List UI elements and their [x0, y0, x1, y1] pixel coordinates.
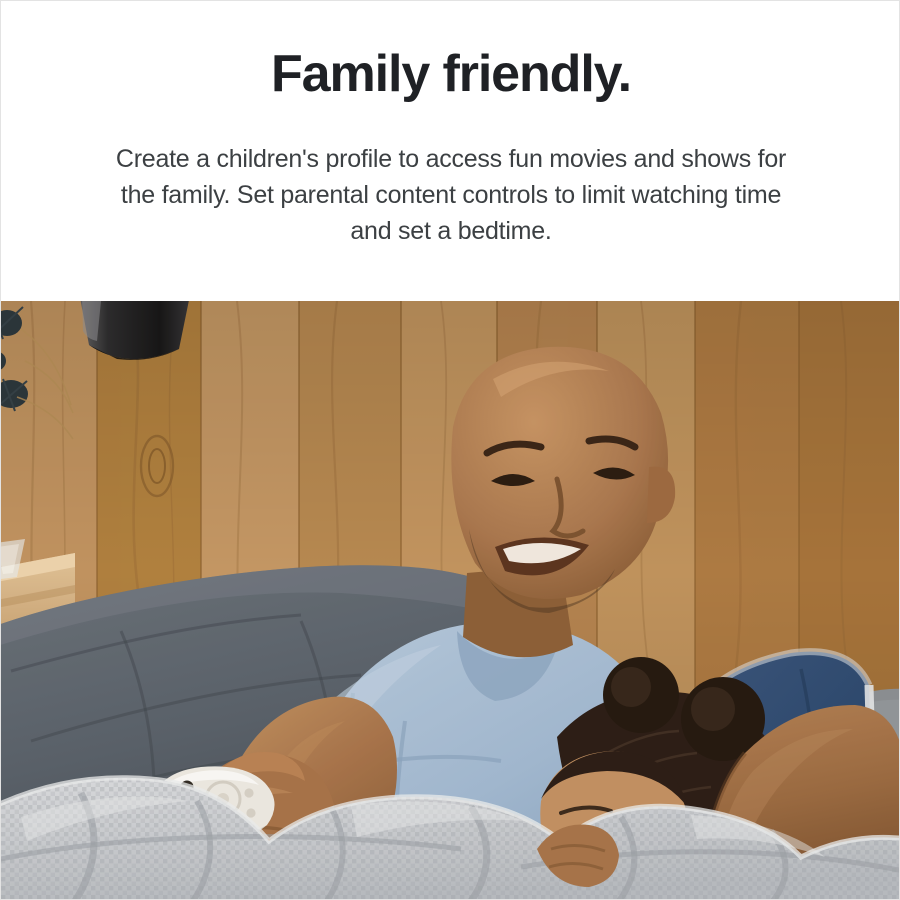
text-panel: Family friendly. Create a children's pro…: [1, 1, 900, 301]
lifestyle-photo: [1, 301, 900, 900]
photo-illustration: [1, 301, 900, 900]
family-friendly-promo-card: Family friendly. Create a children's pro…: [0, 0, 900, 900]
page-title: Family friendly.: [271, 48, 631, 100]
description-text: Create a children's profile to access fu…: [101, 141, 801, 249]
